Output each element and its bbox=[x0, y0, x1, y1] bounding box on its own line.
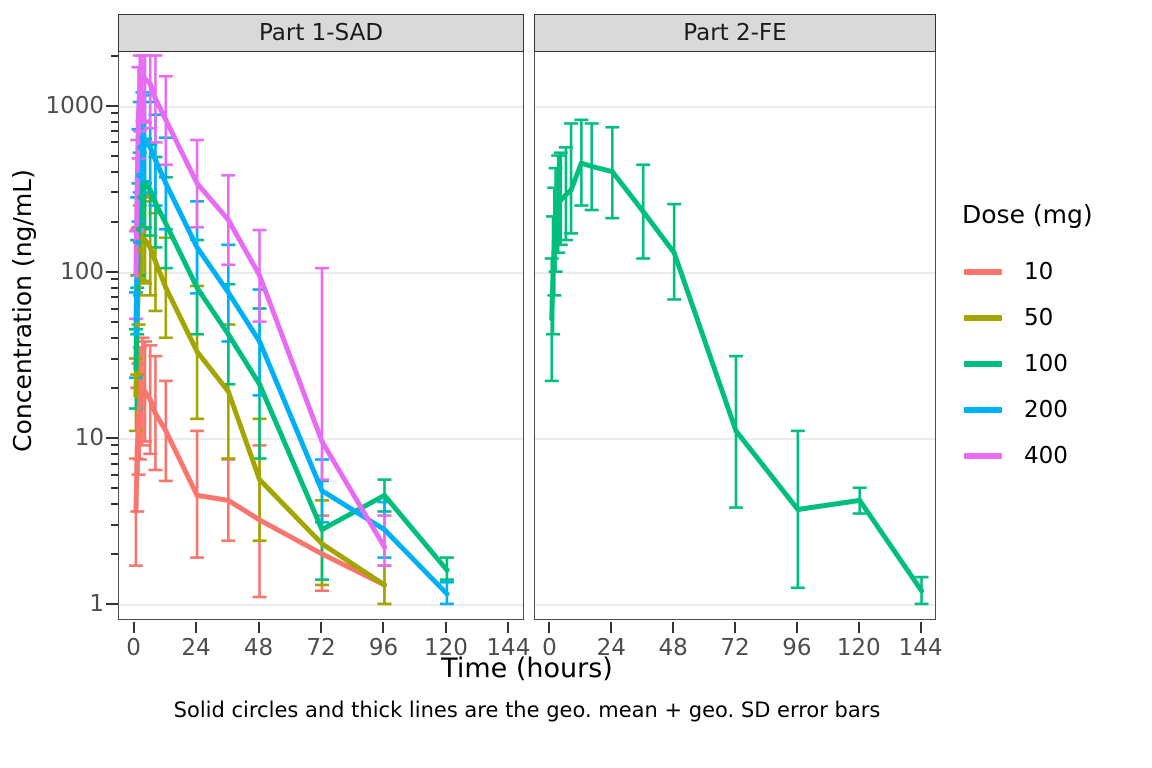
legend: Dose (mg) 1050100200400 bbox=[962, 200, 1152, 479]
y-axis-minor-tick bbox=[111, 155, 118, 157]
x-axis-tick bbox=[548, 622, 550, 633]
facet-strip-label: Part 1-SAD bbox=[259, 20, 383, 46]
y-axis-title-text: Concentration (ng/mL) bbox=[8, 169, 37, 452]
y-axis-minor-tick bbox=[111, 358, 118, 360]
x-axis-tick bbox=[320, 622, 322, 633]
legend-item-label: 200 bbox=[1024, 397, 1068, 423]
legend-key bbox=[962, 349, 1004, 379]
legend-item-label: 100 bbox=[1024, 351, 1068, 377]
legend-item-dose-200[interactable]: 200 bbox=[962, 387, 1152, 433]
x-axis-tick bbox=[920, 622, 922, 633]
facet-strip-part-1-sad: Part 1-SAD bbox=[118, 14, 524, 52]
y-axis-minor-tick bbox=[111, 553, 118, 555]
y-axis-tick-label: 1000 bbox=[45, 93, 104, 119]
facet-strip-label: Part 2-FE bbox=[683, 20, 786, 46]
legend-key bbox=[962, 441, 1004, 471]
pk-concentration-time-figure: Concentration (ng/mL) 1101001000 Part 1-… bbox=[0, 0, 1152, 768]
y-axis-minor-tick bbox=[111, 130, 118, 132]
legend-item-label: 400 bbox=[1024, 443, 1068, 469]
y-axis-major-tick bbox=[106, 105, 118, 107]
x-axis-tick bbox=[796, 622, 798, 633]
legend-items: 1050100200400 bbox=[962, 249, 1152, 479]
facet-strip-part-2-fe: Part 2-FE bbox=[534, 14, 936, 52]
y-axis-minor-tick bbox=[111, 453, 118, 455]
y-axis-minor-tick bbox=[111, 287, 118, 289]
x-axis-title: Time (hours) bbox=[118, 653, 936, 684]
y-axis-minor-tick bbox=[111, 191, 118, 193]
data-layer bbox=[119, 52, 524, 620]
y-axis-minor-tick bbox=[111, 278, 118, 280]
x-axis-tick bbox=[133, 622, 135, 633]
y-axis-minor-tick bbox=[111, 296, 118, 298]
legend-key bbox=[962, 257, 1004, 287]
x-axis-tick bbox=[672, 622, 674, 633]
y-axis-minor-tick bbox=[111, 171, 118, 173]
y-axis-minor-tick bbox=[111, 337, 118, 339]
y-axis-tick-label: 100 bbox=[60, 259, 104, 285]
x-axis-tick bbox=[382, 622, 384, 633]
legend-item-dose-50[interactable]: 50 bbox=[962, 295, 1152, 341]
legend-item-dose-400[interactable]: 400 bbox=[962, 433, 1152, 479]
x-axis-tick bbox=[858, 622, 860, 633]
legend-line-swatch bbox=[964, 315, 1002, 321]
x-axis-tick bbox=[258, 622, 260, 633]
legend-item-dose-100[interactable]: 100 bbox=[962, 341, 1152, 387]
legend-line-swatch bbox=[964, 453, 1002, 459]
x-axis-tick bbox=[610, 622, 612, 633]
x-axis-tick bbox=[734, 622, 736, 633]
y-axis-title: Concentration (ng/mL) bbox=[0, 0, 44, 620]
plot-area-part-1-sad bbox=[118, 52, 524, 620]
y-axis-minor-tick bbox=[111, 444, 118, 446]
y-axis-minor-tick bbox=[111, 503, 118, 505]
legend-line-swatch bbox=[964, 407, 1002, 413]
facet-panel-part-1-sad: Part 1-SAD 024487296120144 bbox=[118, 14, 524, 620]
x-axis-tick bbox=[507, 622, 509, 633]
error-bars-dose-100 bbox=[545, 120, 929, 604]
y-axis-minor-tick bbox=[111, 463, 118, 465]
y-axis-major-tick bbox=[106, 603, 118, 605]
legend-item-label: 10 bbox=[1024, 259, 1053, 285]
legend-item-label: 50 bbox=[1024, 305, 1053, 331]
y-axis-minor-tick bbox=[111, 55, 118, 57]
x-axis-tick bbox=[445, 622, 447, 633]
y-axis-minor-tick bbox=[111, 121, 118, 123]
y-axis-minor-tick bbox=[111, 487, 118, 489]
y-axis-minor-tick bbox=[111, 308, 118, 310]
y-axis-minor-tick bbox=[111, 474, 118, 476]
y-axis-major-tick bbox=[106, 271, 118, 273]
y-axis-minor-tick bbox=[111, 112, 118, 114]
error-bars-dose-200 bbox=[129, 92, 454, 604]
legend-key bbox=[962, 395, 1004, 425]
legend-key bbox=[962, 303, 1004, 333]
y-axis-minor-tick bbox=[111, 221, 118, 223]
y-axis-major-tick bbox=[106, 437, 118, 439]
legend-line-swatch bbox=[964, 269, 1002, 275]
y-axis-ticks: 1101001000 bbox=[44, 0, 118, 620]
legend-title: Dose (mg) bbox=[962, 200, 1152, 229]
legend-line-swatch bbox=[964, 361, 1002, 367]
y-axis-tick-label: 1 bbox=[89, 591, 104, 617]
y-axis-tick-label: 10 bbox=[75, 425, 104, 451]
legend-item-dose-10[interactable]: 10 bbox=[962, 249, 1152, 295]
figure-caption: Solid circles and thick lines are the ge… bbox=[118, 698, 936, 722]
data-layer bbox=[535, 52, 936, 620]
x-axis-tick bbox=[195, 622, 197, 633]
y-axis-minor-tick bbox=[111, 141, 118, 143]
y-axis-minor-tick bbox=[111, 321, 118, 323]
y-axis-minor-tick bbox=[111, 524, 118, 526]
plot-area-part-2-fe bbox=[534, 52, 936, 620]
facet-panel-part-2-fe: Part 2-FE 024487296120144 bbox=[534, 14, 936, 620]
y-axis-minor-tick bbox=[111, 387, 118, 389]
